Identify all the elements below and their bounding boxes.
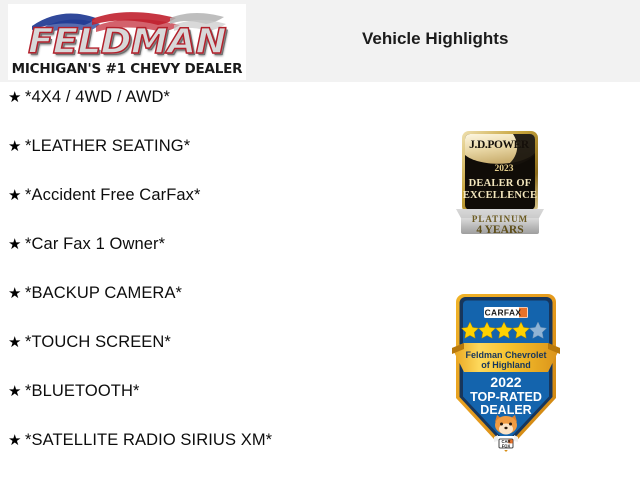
- carfox-shirt-line2: FOX: [502, 444, 511, 449]
- dealer-logo[interactable]: FELDMAN MICHIGAN'S #1 CHEVY DEALER: [8, 4, 246, 80]
- list-item-label: *BACKUP CAMERA*: [25, 284, 182, 303]
- star-bullet-icon: ★: [8, 139, 25, 154]
- star-bullet-icon: ★: [8, 237, 25, 252]
- carfax-year: 2022: [490, 374, 521, 390]
- jd-power-badge: J.D.POWER 2023 DEALER OF EXCELLENCE PLAT…: [452, 129, 548, 237]
- dealer-logo-wordmark: FELDMAN: [9, 24, 244, 60]
- list-item-label: *BLUETOOTH*: [25, 382, 140, 401]
- star-bullet-icon: ★: [8, 433, 25, 448]
- list-item: ★ *BACKUP CAMERA*: [0, 284, 430, 333]
- carfax-dealer-line1: Feldman Chevrolet: [465, 350, 546, 360]
- list-item-label: *SATELLITE RADIO SIRIUS XM*: [25, 431, 272, 450]
- star-bullet-icon: ★: [8, 286, 25, 301]
- list-item: ★ *TOUCH SCREEN*: [0, 333, 430, 382]
- list-item: ★ *Accident Free CarFax*: [0, 186, 430, 235]
- list-item: ★ *LEATHER SEATING*: [0, 137, 430, 186]
- dealer-logo-tagline: MICHIGAN'S #1 CHEVY DEALER: [8, 61, 246, 77]
- jdp-award-line1: DEALER OF: [469, 178, 532, 189]
- carfax-award-line1: TOP-RATED: [470, 390, 542, 404]
- list-item: ★ *SATELLITE RADIO SIRIUS XM*: [0, 431, 430, 480]
- list-item-label: *Accident Free CarFax*: [25, 186, 201, 205]
- page-title: Vehicle Highlights: [362, 29, 508, 49]
- carfax-dealer-line2: of Highland: [481, 360, 531, 370]
- star-bullet-icon: ★: [8, 90, 25, 105]
- jdp-award-line2: EXCELLENCE: [463, 190, 537, 201]
- carfax-brand: CARFAX: [485, 308, 522, 318]
- jdp-brand: J.D.POWER: [469, 139, 530, 151]
- list-item: ★ *Car Fax 1 Owner*: [0, 235, 430, 284]
- carfax-award-line2: DEALER: [480, 403, 531, 417]
- star-bullet-icon: ★: [8, 335, 25, 350]
- list-item: ★ *BLUETOOTH*: [0, 382, 430, 431]
- list-item: ★ *4X4 / 4WD / AWD*: [0, 88, 430, 137]
- list-item-label: *LEATHER SEATING*: [25, 137, 190, 156]
- jdp-year: 2023: [495, 164, 514, 174]
- jdp-tier: PLATINUM: [472, 214, 528, 224]
- jdp-duration: 4 YEARS: [476, 224, 523, 236]
- carfax-badge: CARFAX Feldman Chevrolet of Highland 202…: [450, 288, 562, 458]
- list-item-label: *4X4 / 4WD / AWD*: [25, 88, 170, 107]
- page-header: FELDMAN MICHIGAN'S #1 CHEVY DEALER Vehic…: [0, 0, 640, 82]
- star-bullet-icon: ★: [8, 384, 25, 399]
- star-bullet-icon: ★: [8, 188, 25, 203]
- list-item-label: *Car Fax 1 Owner*: [25, 235, 165, 254]
- vehicle-highlights-list: ★ *4X4 / 4WD / AWD* ★ *LEATHER SEATING* …: [0, 88, 430, 480]
- list-item-label: *TOUCH SCREEN*: [25, 333, 171, 352]
